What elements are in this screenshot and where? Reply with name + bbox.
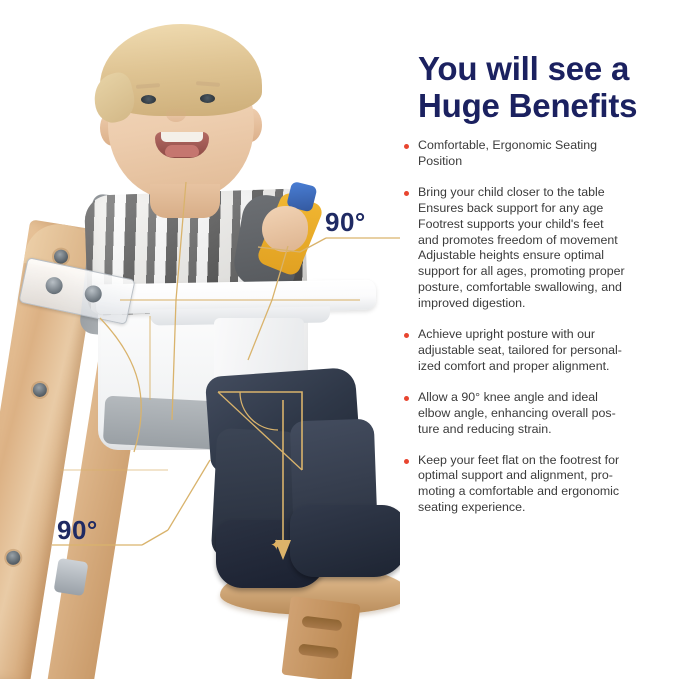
list-item: Achieve upright posture with our adjusta… (402, 327, 668, 375)
list-item-text: Comfortable, Ergonomic Seating Position (418, 138, 668, 170)
page-title: You will see a Huge Benefits (418, 50, 670, 124)
infographic-page: ✦ (0, 0, 679, 679)
bullet-dot-icon (404, 459, 409, 464)
benefits-list: Comfortable, Ergonomic Seating Position … (402, 138, 668, 531)
list-item: Allow a 90° knee angle and ideal elbow a… (402, 390, 668, 438)
angle-label-knee: 90° (325, 207, 366, 238)
child-boot-right (290, 505, 400, 577)
chair-slider-clip (54, 558, 89, 596)
benefits-panel: You will see a Huge Benefits Comfortable… (400, 0, 679, 679)
list-item: Bring your child closer to the table Ens… (402, 185, 668, 312)
bullet-dot-icon (404, 144, 409, 149)
child-eye-left (141, 95, 156, 104)
list-item-text: Achieve upright posture with our adjusta… (418, 327, 668, 375)
list-item-text: Allow a 90° knee angle and ideal elbow a… (418, 390, 668, 438)
list-item-text: Bring your child closer to the table Ens… (418, 185, 668, 312)
page-title-line-1: You will see a (418, 50, 670, 87)
footrest-slot (301, 616, 342, 632)
list-item: Keep your feet flat on the footrest for … (402, 453, 668, 517)
bolt-icon (83, 284, 103, 304)
child-mouth (155, 132, 209, 158)
child-eye-right (200, 94, 215, 103)
angle-label-elbow: 90° (57, 515, 98, 546)
bolt-icon (44, 276, 64, 296)
child-nose (166, 106, 186, 122)
child-hair (100, 24, 262, 116)
child-teeth (161, 132, 203, 142)
footrest-slot (298, 643, 339, 659)
product-photo: ✦ (0, 0, 400, 679)
list-item: Comfortable, Ergonomic Seating Position (402, 138, 668, 170)
child-tongue (165, 145, 199, 157)
chair-footrest-support (281, 596, 360, 679)
child-neck (150, 184, 220, 218)
bullet-dot-icon (404, 396, 409, 401)
bullet-dot-icon (404, 191, 409, 196)
bullet-dot-icon (404, 333, 409, 338)
page-title-line-2: Huge Benefits (418, 87, 670, 124)
boot-star-icon: ✦ (270, 538, 283, 553)
list-item-text: Keep your feet flat on the footrest for … (418, 453, 668, 517)
